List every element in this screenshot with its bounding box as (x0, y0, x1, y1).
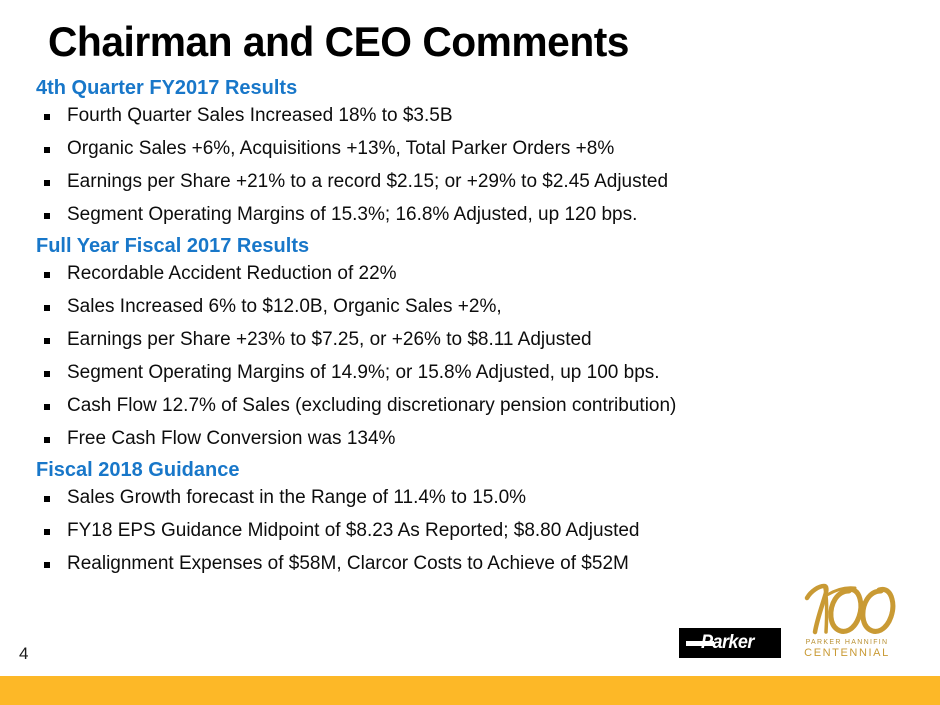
bullet-square-icon (44, 496, 50, 502)
bullet-square-icon (44, 272, 50, 278)
centennial-subtitle-centennial: CENTENNIAL (797, 647, 897, 660)
bullet-item: Sales Growth forecast in the Range of 11… (36, 488, 896, 507)
bullet-square-icon (44, 180, 50, 186)
page-number: 4 (19, 645, 28, 662)
bullet-text: Earnings per Share +23% to $7.25, or +26… (67, 329, 592, 350)
bullet-list: Sales Growth forecast in the Range of 11… (36, 488, 896, 573)
bottom-accent-bar (0, 676, 940, 705)
bullet-item: Segment Operating Margins of 15.3%; 16.8… (36, 205, 896, 224)
bullet-square-icon (44, 404, 50, 410)
bullet-text: FY18 EPS Guidance Midpoint of $8.23 As R… (67, 520, 640, 541)
bullet-square-icon (44, 114, 50, 120)
bullet-list: Recordable Accident Reduction of 22%Sale… (36, 264, 896, 448)
content-section: Fiscal 2018 GuidanceSales Growth forecas… (36, 460, 896, 573)
bullet-square-icon (44, 147, 50, 153)
bullet-square-icon (44, 338, 50, 344)
bullet-list: Fourth Quarter Sales Increased 18% to $3… (36, 106, 896, 224)
parker-logo: Parker (679, 628, 781, 658)
slide-body: 4th Quarter FY2017 ResultsFourth Quarter… (36, 78, 896, 573)
bullet-text: Segment Operating Margins of 14.9%; or 1… (67, 362, 660, 383)
centennial-subtitle-hannifin: PARKER HANNIFIN (797, 638, 897, 647)
page-title: Chairman and CEO Comments (48, 20, 629, 64)
bullet-text: Realignment Expenses of $58M, Clarcor Co… (67, 553, 629, 574)
content-section: Full Year Fiscal 2017 ResultsRecordable … (36, 236, 896, 448)
bullet-text: Cash Flow 12.7% of Sales (excluding disc… (67, 395, 676, 416)
bullet-item: Segment Operating Margins of 14.9%; or 1… (36, 363, 896, 382)
centennial-logo: PARKER HANNIFIN CENTENNIAL (797, 582, 897, 662)
content-section: 4th Quarter FY2017 ResultsFourth Quarter… (36, 78, 896, 224)
bullet-square-icon (44, 562, 50, 568)
bullet-square-icon (44, 305, 50, 311)
bullet-item: Free Cash Flow Conversion was 134% (36, 429, 896, 448)
bullet-text: Recordable Accident Reduction of 22% (67, 263, 397, 284)
bullet-item: Organic Sales +6%, Acquisitions +13%, To… (36, 139, 896, 158)
bullet-item: Earnings per Share +21% to a record $2.1… (36, 172, 896, 191)
bullet-text: Sales Increased 6% to $12.0B, Organic Sa… (67, 296, 502, 317)
bullet-text: Segment Operating Margins of 15.3%; 16.8… (67, 204, 637, 225)
bullet-text: Fourth Quarter Sales Increased 18% to $3… (67, 105, 453, 126)
slide: Chairman and CEO Comments 4th Quarter FY… (0, 0, 940, 705)
bullet-item: Earnings per Share +23% to $7.25, or +26… (36, 330, 896, 349)
bullet-item: Fourth Quarter Sales Increased 18% to $3… (36, 106, 896, 125)
section-heading: 4th Quarter FY2017 Results (36, 78, 896, 98)
bullet-item: Cash Flow 12.7% of Sales (excluding disc… (36, 396, 896, 415)
centennial-100-icon (797, 582, 897, 638)
bullet-item: Realignment Expenses of $58M, Clarcor Co… (36, 554, 896, 573)
bullet-text: Earnings per Share +21% to a record $2.1… (67, 171, 668, 192)
bullet-text: Free Cash Flow Conversion was 134% (67, 428, 395, 449)
bullet-item: FY18 EPS Guidance Midpoint of $8.23 As R… (36, 521, 896, 540)
bullet-square-icon (44, 213, 50, 219)
bullet-square-icon (44, 529, 50, 535)
bullet-item: Recordable Accident Reduction of 22% (36, 264, 896, 283)
section-heading: Full Year Fiscal 2017 Results (36, 236, 896, 256)
section-heading: Fiscal 2018 Guidance (36, 460, 896, 480)
bullet-item: Sales Increased 6% to $12.0B, Organic Sa… (36, 297, 896, 316)
bullet-text: Sales Growth forecast in the Range of 11… (67, 487, 526, 508)
parker-wordmark: Parker (701, 632, 754, 654)
bullet-text: Organic Sales +6%, Acquisitions +13%, To… (67, 138, 614, 159)
bullet-square-icon (44, 437, 50, 443)
bullet-square-icon (44, 371, 50, 377)
